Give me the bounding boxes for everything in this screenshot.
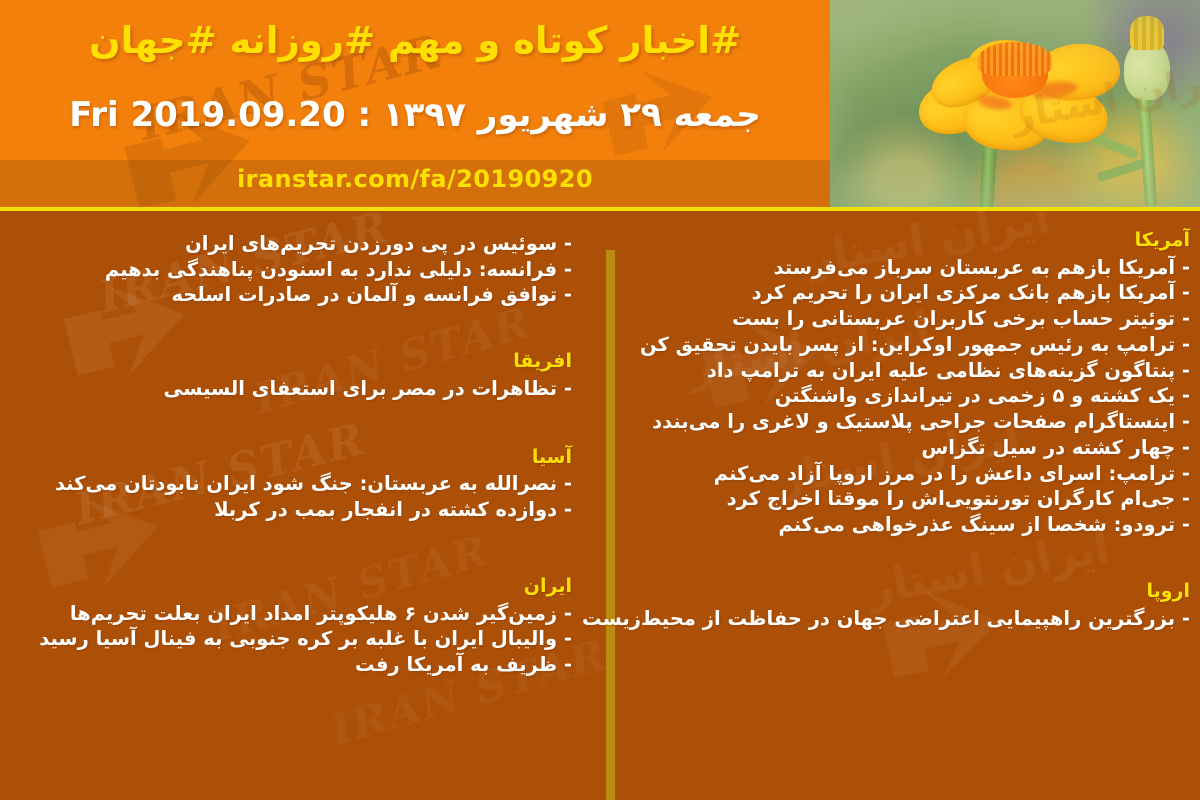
news-item[interactable]: - ترودو: شخصا از سینگ عذرخواهی می‌کنم <box>630 512 1190 538</box>
column-divider <box>606 250 615 800</box>
news-item[interactable]: - اینستاگرام صفحات جراحی پلاستیک و لاغری… <box>630 409 1190 435</box>
news-item[interactable]: - دوازده کشته در انفجار بمب در کربلا <box>20 497 572 523</box>
news-item[interactable]: - ترامپ به رئیس جمهور اوکراین: از پسر با… <box>630 332 1190 358</box>
section-items: - زمین‌گیر شدن ۶ هلیکوپتر امداد ایران بع… <box>20 601 572 678</box>
source-url[interactable]: iranstar.com/fa/20190920 <box>0 165 830 193</box>
news-item[interactable]: - ظریف به آمریکا رفت <box>20 652 572 678</box>
news-item[interactable]: - سوئیس در پی دورزدن تحریم‌های ایران <box>20 231 572 257</box>
flower-center-frill <box>978 42 1052 76</box>
news-item[interactable]: - تظاهرات در مصر برای استعفای السیسی <box>20 376 572 402</box>
section-continuation: - سوئیس در پی دورزدن تحریم‌های ایران - ف… <box>20 231 572 308</box>
news-item[interactable]: - یک کشته و ۵ زخمی در تیراندازی واشنگتن <box>630 383 1190 409</box>
section-europe: اروپا - بزرگترین راهپیمایی اعتراضی جهان … <box>630 580 1190 631</box>
flower-leaf-lower <box>1096 158 1146 182</box>
marigold-flower-photo <box>830 0 1200 207</box>
section-iran: ایران - زمین‌گیر شدن ۶ هلیکوپتر امداد ای… <box>20 575 572 678</box>
section-title: آمریکا <box>630 229 1190 253</box>
section-items: - نصرالله به عربستان: جنگ شود ایران نابو… <box>20 471 572 522</box>
dateline-persian: جمعه ۲۹ شهریور ۱۳۹۷ : <box>357 95 760 135</box>
section-items: - سوئیس در پی دورزدن تحریم‌های ایران - ف… <box>20 231 572 308</box>
news-item[interactable]: - والیبال ایران با غلبه بر کره جنوبی به … <box>20 626 572 652</box>
section-title: آسیا <box>20 446 572 470</box>
news-body: ایران استار ایران استار ایران استار ایرا… <box>0 211 1200 800</box>
section-items: - بزرگترین راهپیمایی اعتراضی جهان در حفا… <box>630 606 1190 632</box>
news-item[interactable]: - جی‌ام کارگران تورنتویی‌اش را موقتا اخر… <box>630 486 1190 512</box>
news-item[interactable]: - پنتاگون گزینه‌های نظامی علیه ایران به … <box>630 358 1190 384</box>
news-item[interactable]: - توافق فرانسه و آلمان در صادرات اسلحه <box>20 282 572 308</box>
news-summary-page: IRAN STAR ایران استار #اخبار کوتاه و مهم… <box>0 0 1200 800</box>
dateline: جمعه ۲۹ شهریور ۱۳۹۷ : Fri 2019.09.20 <box>0 96 830 135</box>
section-asia: آسیا - نصرالله به عربستان: جنگ شود ایران… <box>20 446 572 523</box>
section-america: آمریکا - آمریکا بازهم به عربستان سرباز م… <box>630 229 1190 538</box>
column-right: آمریکا - آمریکا بازهم به عربستان سرباز م… <box>630 211 1190 631</box>
news-item[interactable]: - چهار کشته در سیل تگزاس <box>630 435 1190 461</box>
news-item[interactable]: - آمریکا بازهم به عربستان سرباز می‌فرستد <box>630 255 1190 281</box>
column-left: - سوئیس در پی دورزدن تحریم‌های ایران - ف… <box>20 211 572 678</box>
news-item[interactable]: - بزرگترین راهپیمایی اعتراضی جهان در حفا… <box>630 606 1190 632</box>
news-item[interactable]: - ترامپ: اسرای داعش را در مرز اروپا آزاد… <box>630 461 1190 487</box>
header-divider-rule <box>0 207 1200 211</box>
news-item[interactable]: - نصرالله به عربستان: جنگ شود ایران نابو… <box>20 471 572 497</box>
page-title: #اخبار کوتاه و مهم #روزانه #جهان <box>0 20 830 63</box>
news-item[interactable]: - توئیتر حساب برخی کاربران عربستانی را ب… <box>630 306 1190 332</box>
flower-bud <box>1118 16 1176 102</box>
section-africa: افریقا - تظاهرات در مصر برای استعفای الس… <box>20 350 572 401</box>
flower-bud-tip <box>1130 16 1164 50</box>
flower-bloom <box>916 34 1124 154</box>
news-item[interactable]: - فرانسه: دلیلی ندارد به اسنودن پناهندگی… <box>20 257 572 283</box>
page-header: IRAN STAR ایران استار #اخبار کوتاه و مهم… <box>0 0 1200 211</box>
dateline-gregorian: Fri 2019.09.20 <box>69 95 345 135</box>
section-title: اروپا <box>630 580 1190 604</box>
news-item[interactable]: - آمریکا بازهم بانک مرکزی ایران را تحریم… <box>630 280 1190 306</box>
section-title: ایران <box>20 575 572 599</box>
section-items: - تظاهرات در مصر برای استعفای السیسی <box>20 376 572 402</box>
news-item[interactable]: - زمین‌گیر شدن ۶ هلیکوپتر امداد ایران بع… <box>20 601 572 627</box>
section-items: - آمریکا بازهم به عربستان سرباز می‌فرستد… <box>630 255 1190 538</box>
section-title: افریقا <box>20 350 572 374</box>
